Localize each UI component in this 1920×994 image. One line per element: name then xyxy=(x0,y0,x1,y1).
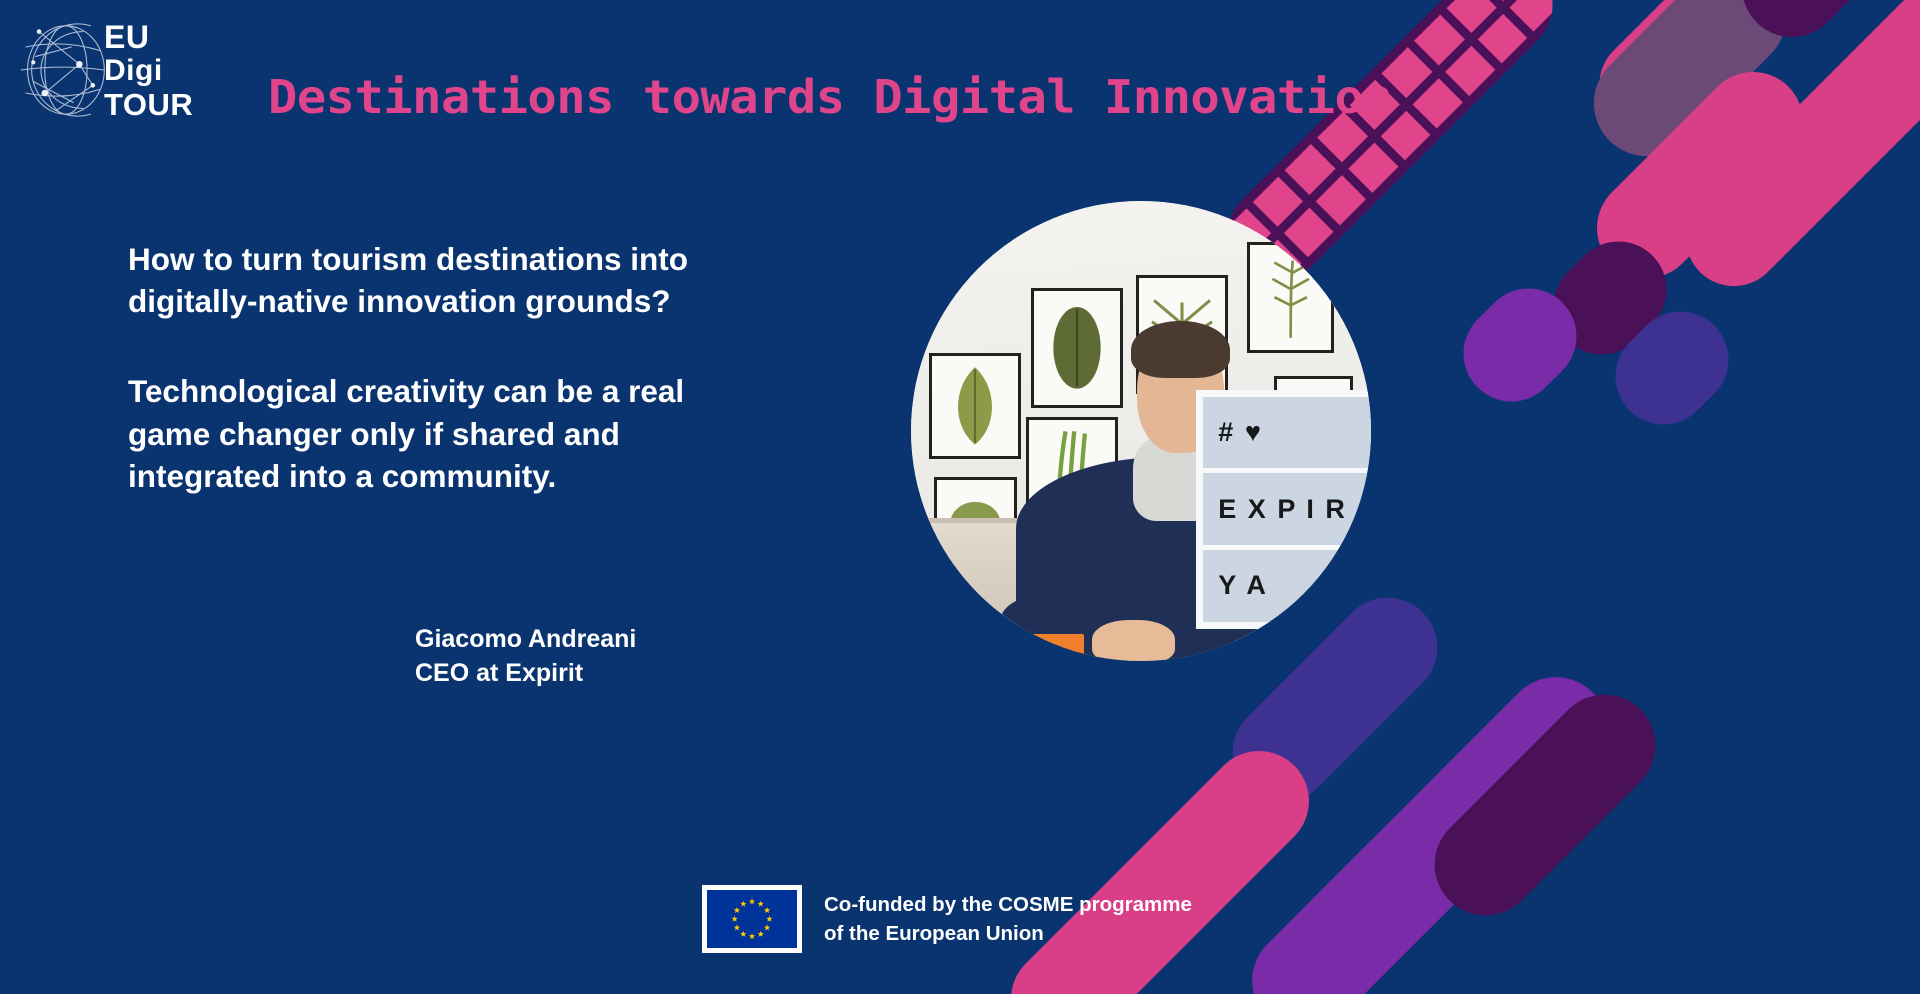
speaker-role: CEO at Expirit xyxy=(415,656,636,690)
lightbox-row: # ♥ xyxy=(1203,397,1371,474)
body-paragraph-statement: Technological creativity can be a real g… xyxy=(128,370,768,497)
lightbox-sign: # ♥ E X P I R Y A xyxy=(1196,390,1371,629)
capsule-purple-dot xyxy=(1444,269,1597,422)
lightbox-row: E X P I R xyxy=(1203,473,1371,550)
body-paragraph-question: How to turn tourism destinations into di… xyxy=(128,238,768,322)
capsule-purple-bottom xyxy=(1231,656,1630,994)
eu-stars xyxy=(707,890,797,948)
capsule-pink-long-right xyxy=(1666,0,1920,306)
capsule-darkpurple-bottom xyxy=(1413,673,1676,936)
photo-hair xyxy=(1131,321,1229,379)
funding-line-2: of the European Union xyxy=(824,919,1192,948)
capsule-pink-mid xyxy=(1576,51,1823,298)
capsule-pink-far-right xyxy=(1580,0,1920,152)
capsule-darkpurple-top xyxy=(1721,0,1920,58)
logo-wordmark: EU Digi TOUR xyxy=(104,21,193,120)
speaker-name: Giacomo Andreani xyxy=(415,622,636,656)
lightbox-row: Y A xyxy=(1203,550,1371,622)
slide-root: EU Digi TOUR Destinations towards Digita… xyxy=(0,0,1920,994)
capsule-mauve-top xyxy=(1572,0,1808,178)
funding-line-1: Co-funded by the COSME programme xyxy=(824,890,1192,919)
funding-text: Co-funded by the COSME programme of the … xyxy=(824,890,1192,948)
eu-funding-statement: Co-funded by the COSME programme of the … xyxy=(702,885,1192,953)
logo-line-eu: EU xyxy=(104,21,193,53)
capsule-indigo-dot xyxy=(1596,292,1749,445)
logo-line-tour: TOUR xyxy=(104,89,193,120)
logo-line-digi: Digi xyxy=(104,56,193,86)
page-title: Destinations towards Digital Innovation xyxy=(268,70,1455,124)
globe-wireframe-icon xyxy=(16,18,112,122)
speaker-portrait-photo: # ♥ E X P I R Y A xyxy=(911,201,1371,661)
eu-digitour-logo: EU Digi TOUR xyxy=(16,18,193,122)
photo-hand xyxy=(1092,620,1175,661)
capsule-darkpurple-dot xyxy=(1534,222,1687,375)
capsule-pink-bottom xyxy=(990,730,1329,994)
photo-orange-book xyxy=(1001,634,1084,661)
speaker-attribution: Giacomo Andreani CEO at Expirit xyxy=(415,622,636,691)
eu-flag-icon xyxy=(702,885,802,953)
body-copy: How to turn tourism destinations into di… xyxy=(128,238,768,497)
